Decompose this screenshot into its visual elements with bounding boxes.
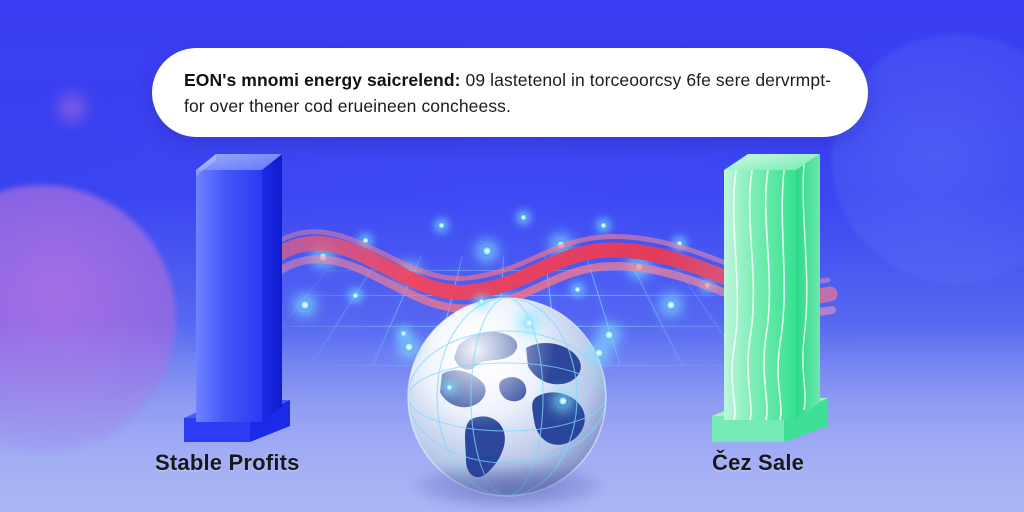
- globe-node: [558, 396, 568, 406]
- globe-node: [404, 342, 414, 352]
- bar-green-svg: [708, 148, 834, 442]
- callout-card: EON's mnomi energy saicrelend: 09 lastet…: [152, 48, 868, 137]
- bar-stable-profits: [178, 150, 296, 442]
- infographic-canvas: EON's mnomi energy saicrelend: 09 lastet…: [0, 0, 1024, 512]
- bar-cez-sale: [708, 148, 834, 442]
- globe-illustration: [398, 288, 616, 506]
- bar-label-cez-sale: Čez Sale: [712, 450, 804, 476]
- bar-blue-svg: [178, 150, 296, 442]
- globe-node: [478, 298, 485, 305]
- globe-node: [524, 318, 534, 328]
- globe-node: [446, 384, 453, 391]
- callout-lead: EON's mnomi energy saicrelend:: [184, 70, 461, 90]
- globe-shadow: [416, 464, 600, 508]
- globe-node: [594, 348, 604, 358]
- bar-label-stable-profits: Stable Profits: [155, 450, 300, 476]
- callout-text: EON's mnomi energy saicrelend: 09 lastet…: [152, 67, 868, 119]
